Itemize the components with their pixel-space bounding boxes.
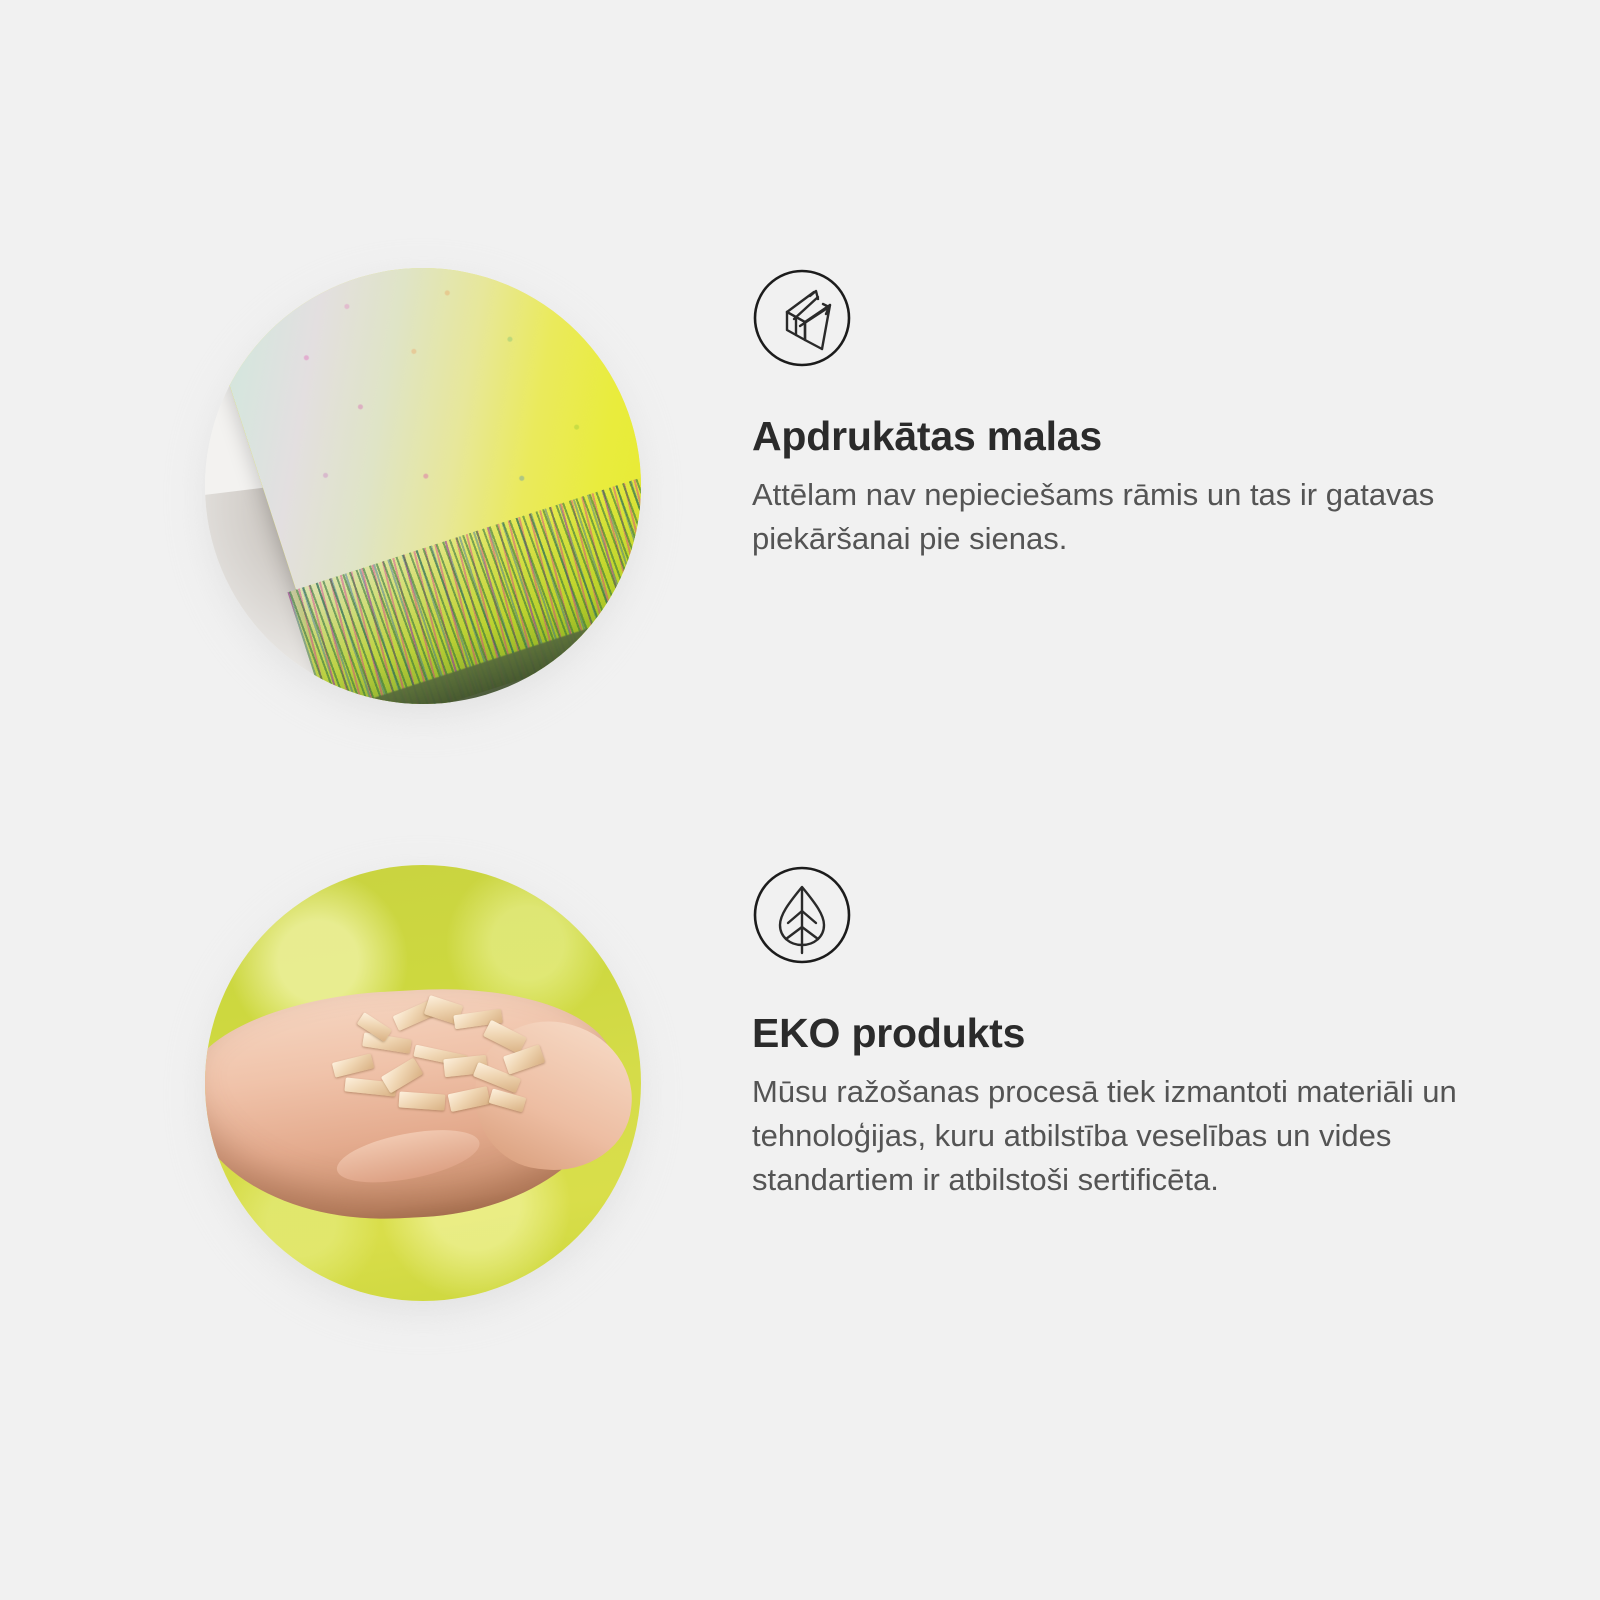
feature-text-column: Apdrukātas malas Attēlam nav nepieciešam… <box>752 268 1492 561</box>
feature-title: EKO produkts <box>752 1011 1492 1056</box>
hand-thumb <box>333 1121 484 1193</box>
canvas-corner-photo <box>205 268 641 704</box>
wood-chips-in-hand-photo <box>205 865 641 1301</box>
feature-title: Apdrukātas malas <box>752 414 1492 459</box>
feature-text-column: EKO produkts Mūsu ražošanas procesā tiek… <box>752 865 1492 1202</box>
leaf-icon <box>752 865 852 965</box>
feature-description: Mūsu ražošanas procesā tiek izmantoti ma… <box>752 1070 1470 1202</box>
printed-edges-icon <box>752 268 852 368</box>
product-features-page: Apdrukātas malas Attēlam nav nepieciešam… <box>0 0 1600 1600</box>
wood-chips-pile <box>323 996 576 1131</box>
feature-description: Attēlam nav nepieciešams rāmis un tas ir… <box>752 473 1470 561</box>
photo-circle-mask <box>205 268 641 704</box>
photo-circle-mask <box>205 865 641 1301</box>
